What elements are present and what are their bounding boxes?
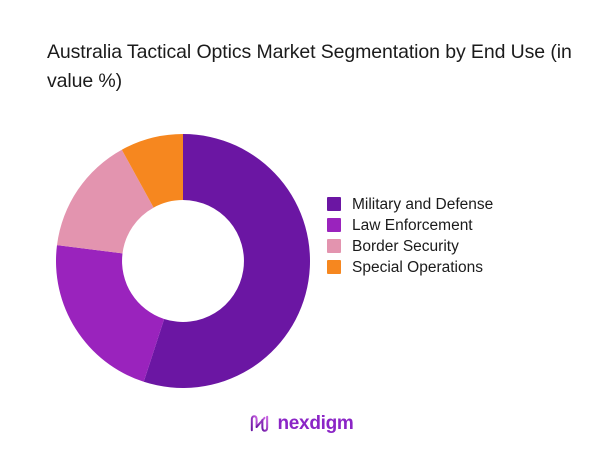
- legend-item-label: Special Operations: [352, 258, 483, 277]
- donut-chart-svg: [56, 134, 310, 388]
- donut-slice-group: [56, 134, 310, 388]
- nexdigm-n-mark-icon: [248, 412, 271, 435]
- legend-color-swatch: [327, 197, 341, 211]
- legend-item-label: Military and Defense: [352, 195, 493, 214]
- page-title: Australia Tactical Optics Market Segment…: [47, 38, 577, 96]
- chart-legend: Military and DefenseLaw EnforcementBorde…: [327, 194, 577, 278]
- legend-item[interactable]: Special Operations: [327, 257, 577, 278]
- donut-slice[interactable]: [56, 245, 164, 382]
- donut-chart: [56, 134, 310, 388]
- chart-page: Australia Tactical Optics Market Segment…: [0, 0, 602, 451]
- legend-item[interactable]: Military and Defense: [327, 194, 577, 215]
- legend-item[interactable]: Border Security: [327, 236, 577, 257]
- legend-item-label: Border Security: [352, 237, 459, 256]
- legend-color-swatch: [327, 260, 341, 274]
- legend-item-label: Law Enforcement: [352, 216, 473, 235]
- brand-wordmark: nexdigm: [277, 412, 353, 435]
- legend-item[interactable]: Law Enforcement: [327, 215, 577, 236]
- legend-color-swatch: [327, 218, 341, 232]
- legend-color-swatch: [327, 239, 341, 253]
- brand-footer: nexdigm: [0, 412, 602, 435]
